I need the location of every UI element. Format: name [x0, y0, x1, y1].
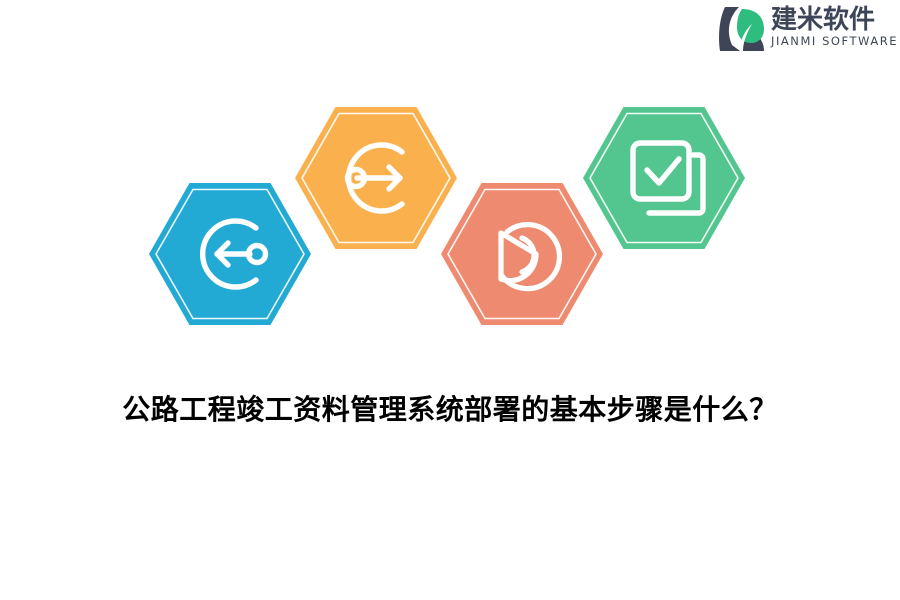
hexagon-step-1[interactable] [149, 183, 311, 325]
hexagon-step-4[interactable] [583, 107, 745, 249]
hexagon-step-3[interactable] [441, 183, 603, 325]
page-headline: 公路工程竣工资料管理系统部署的基本步骤是什么？ [0, 392, 900, 428]
hexagon-icon-row [0, 0, 900, 380]
hexagon-step-2[interactable] [295, 107, 457, 249]
